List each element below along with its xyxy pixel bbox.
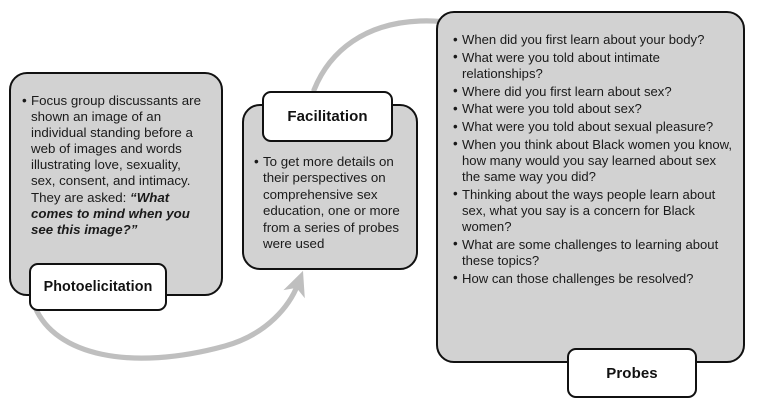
list-item: Where did you first learn about sex? [453, 84, 733, 100]
list-item: What are some challenges to learning abo… [453, 237, 733, 269]
stage-label-facilitation[interactable]: Facilitation [262, 91, 393, 142]
list-item: What were you told about sex? [453, 101, 733, 117]
list-item: What were you told about sexual pleasure… [453, 119, 733, 135]
probe-question-text: What were you told about intimate relati… [462, 50, 660, 81]
list-item: What were you told about intimate relati… [453, 50, 733, 82]
photoelicitation-bullet-list: Focus group discussants are shown an ima… [22, 93, 208, 238]
diagram-canvas: Focus group discussants are shown an ima… [0, 0, 757, 408]
probes-bullet-list: When did you first learn about your body… [453, 32, 733, 287]
probe-question-text: What are some challenges to learning abo… [462, 237, 718, 268]
photoelicitation-bullet-text: Focus group discussants are shown an ima… [31, 93, 201, 205]
probe-question-text: Where did you first learn about sex? [462, 84, 672, 99]
stage-label-photoelicitation[interactable]: Photoelicitation [29, 263, 167, 311]
stage-panel-probes: When did you first learn about your body… [436, 11, 745, 363]
list-item: When you think about Black women you kno… [453, 137, 733, 186]
probe-question-text: What were you told about sexual pleasure… [462, 119, 713, 134]
facilitation-body: To get more details on their perspective… [254, 154, 406, 252]
list-item: How can those challenges be resolved? [453, 271, 733, 287]
photoelicitation-body: Focus group discussants are shown an ima… [22, 93, 208, 238]
list-item: Thinking about the ways people learn abo… [453, 187, 733, 236]
list-item: To get more details on their perspective… [254, 154, 406, 252]
stage-label-probes[interactable]: Probes [567, 348, 697, 398]
list-item: Focus group discussants are shown an ima… [22, 93, 208, 238]
list-item: When did you first learn about your body… [453, 32, 733, 48]
facilitation-bullet-text: To get more details on their perspective… [263, 154, 400, 251]
probe-question-text: When did you first learn about your body… [462, 32, 704, 47]
probe-question-text: How can those challenges be resolved? [462, 271, 693, 286]
probe-question-text: When you think about Black women you kno… [462, 137, 732, 184]
probes-body: When did you first learn about your body… [453, 32, 733, 289]
probe-question-text: Thinking about the ways people learn abo… [462, 187, 715, 234]
probe-question-text: What were you told about sex? [462, 101, 642, 116]
facilitation-bullet-list: To get more details on their perspective… [254, 154, 406, 252]
